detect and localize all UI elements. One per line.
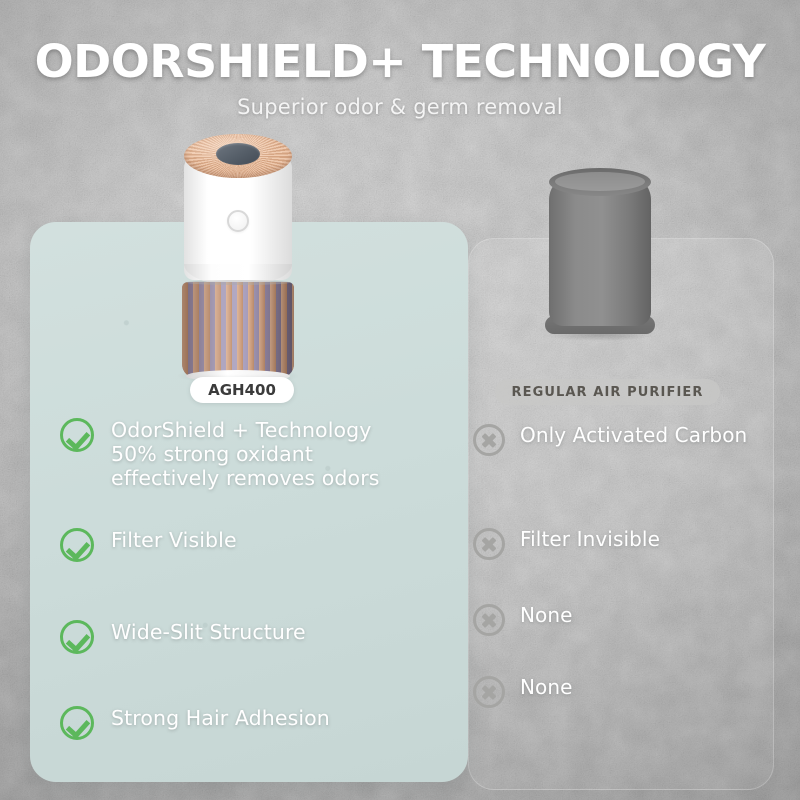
- page-subtitle: Superior odor & germ removal: [0, 95, 800, 119]
- feature-item: Strong Hair Adhesion: [60, 706, 330, 740]
- check-circle-icon: [60, 418, 94, 452]
- agh400-cage-shading: [182, 282, 294, 378]
- feature-label-line: OdorShield + Technology: [111, 418, 380, 442]
- feature-label-line: Filter Invisible: [520, 528, 660, 552]
- feature-label: Wide-Slit Structure: [111, 620, 306, 644]
- feature-label-line: 50% strong oxidant: [111, 442, 380, 466]
- infographic-stage: ODORSHIELD+ TECHNOLOGY Superior odor & g…: [0, 0, 800, 800]
- feature-label: Filter Invisible: [520, 528, 660, 552]
- feature-label-line: Filter Visible: [111, 528, 237, 552]
- feature-label-line: Wide-Slit Structure: [111, 620, 306, 644]
- generic-air-purifier-silhouette-icon: [543, 166, 657, 336]
- feature-item: None: [473, 676, 573, 708]
- agh400-display-panel: [216, 143, 260, 165]
- check-circle-icon: [60, 528, 94, 562]
- cross-circle-icon: [473, 676, 505, 708]
- feature-label: Strong Hair Adhesion: [111, 706, 330, 730]
- regular-purifier-body: [549, 174, 651, 326]
- air-purifier-agh400-icon: [176, 132, 300, 380]
- feature-item: None: [473, 604, 573, 636]
- power-button-icon: [227, 210, 249, 232]
- page-title: ODORSHIELD+ TECHNOLOGY: [0, 38, 800, 85]
- feature-label: None: [520, 604, 573, 628]
- feature-label: Only Activated Carbon: [520, 424, 747, 448]
- feature-label: None: [520, 676, 573, 700]
- feature-label-line: Only Activated Carbon: [520, 424, 747, 448]
- feature-item: Filter Visible: [60, 528, 237, 562]
- feature-label-line: effectively removes odors: [111, 466, 380, 490]
- regular-purifier-top-inner: [555, 172, 645, 191]
- feature-label-line: Strong Hair Adhesion: [111, 706, 330, 730]
- check-circle-icon: [60, 706, 94, 740]
- cross-circle-icon: [473, 604, 505, 636]
- feature-item: OdorShield + Technology50% strong oxidan…: [60, 418, 380, 491]
- cross-circle-icon: [473, 424, 505, 456]
- check-circle-icon: [60, 620, 94, 654]
- header: ODORSHIELD+ TECHNOLOGY Superior odor & g…: [0, 0, 800, 119]
- feature-item: Filter Invisible: [473, 528, 660, 560]
- agh400-seam: [186, 280, 290, 285]
- cross-circle-icon: [473, 528, 505, 560]
- feature-label: Filter Visible: [111, 528, 237, 552]
- feature-label-line: None: [520, 676, 573, 700]
- feature-item: Only Activated Carbon: [473, 424, 747, 456]
- competitor-product-badge: REGULAR AIR PURIFIER: [495, 379, 720, 405]
- feature-label-line: None: [520, 604, 573, 628]
- featured-product-badge: AGH400: [190, 377, 294, 403]
- agh400-filter-cage: [182, 282, 294, 378]
- feature-label: OdorShield + Technology50% strong oxidan…: [111, 418, 380, 491]
- feature-item: Wide-Slit Structure: [60, 620, 306, 654]
